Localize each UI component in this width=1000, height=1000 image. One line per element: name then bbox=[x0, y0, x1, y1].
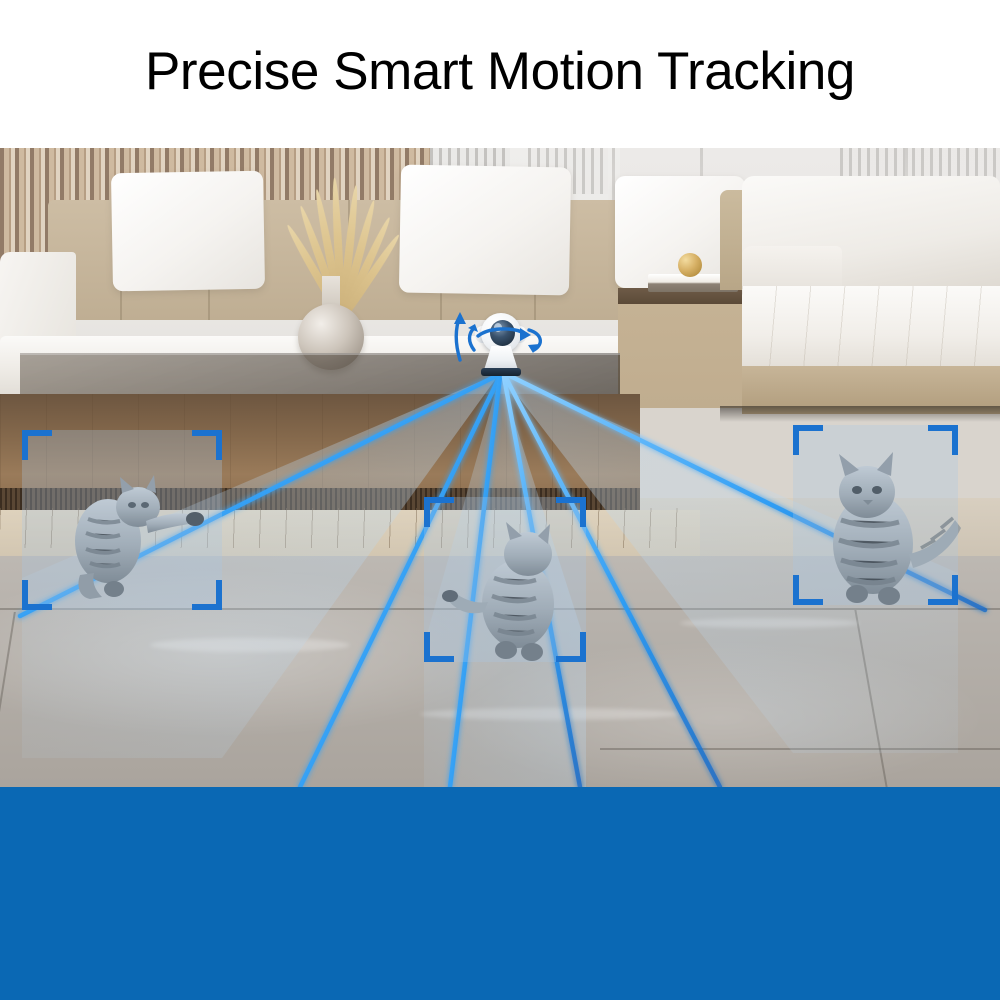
bracket-corner-br bbox=[192, 580, 222, 610]
bracket-corner-tl bbox=[793, 425, 823, 455]
sofa-armrest bbox=[0, 252, 76, 348]
bracket-corner-tr bbox=[556, 497, 586, 527]
detection-box-center[interactable] bbox=[424, 497, 586, 662]
footer-band: When motion activity is detected, tracks… bbox=[0, 787, 1000, 1000]
floor-vein bbox=[420, 708, 680, 720]
bracket-corner-bl bbox=[22, 580, 52, 610]
tilt-arrow-path-2 bbox=[470, 328, 475, 350]
rotation-arrows bbox=[434, 298, 574, 388]
sofa-pillow bbox=[399, 165, 571, 296]
bracket-corner-bl bbox=[424, 632, 454, 662]
header-band: Precise Smart Motion Tracking bbox=[0, 0, 1000, 148]
floor-vein bbox=[680, 618, 860, 628]
sofa-pillow bbox=[111, 171, 265, 292]
bracket-corner-tr bbox=[928, 425, 958, 455]
promo-page: Precise Smart Motion Tracking bbox=[0, 0, 1000, 1000]
bracket-corner-tr bbox=[192, 430, 222, 460]
bracket-corner-br bbox=[928, 575, 958, 605]
detection-box-right[interactable] bbox=[793, 425, 958, 605]
gold-decor-sphere bbox=[678, 253, 702, 277]
pampas-grass bbox=[276, 154, 416, 319]
bracket-corner-br bbox=[556, 632, 586, 662]
page-title: Precise Smart Motion Tracking bbox=[0, 41, 1000, 103]
bracket-corner-tl bbox=[22, 430, 52, 460]
chaise-shadow bbox=[720, 406, 1000, 422]
tilt-arrow-head bbox=[454, 312, 466, 324]
floor-vein bbox=[150, 638, 350, 652]
pan-arrow-path-left bbox=[478, 329, 526, 336]
detection-box-left[interactable] bbox=[22, 430, 222, 610]
bracket-corner-bl bbox=[793, 575, 823, 605]
bracket-corner-tl bbox=[424, 497, 454, 527]
chaise-seat bbox=[742, 286, 1000, 376]
scene-photo bbox=[0, 148, 1000, 787]
floor-grout-line bbox=[600, 748, 1000, 750]
